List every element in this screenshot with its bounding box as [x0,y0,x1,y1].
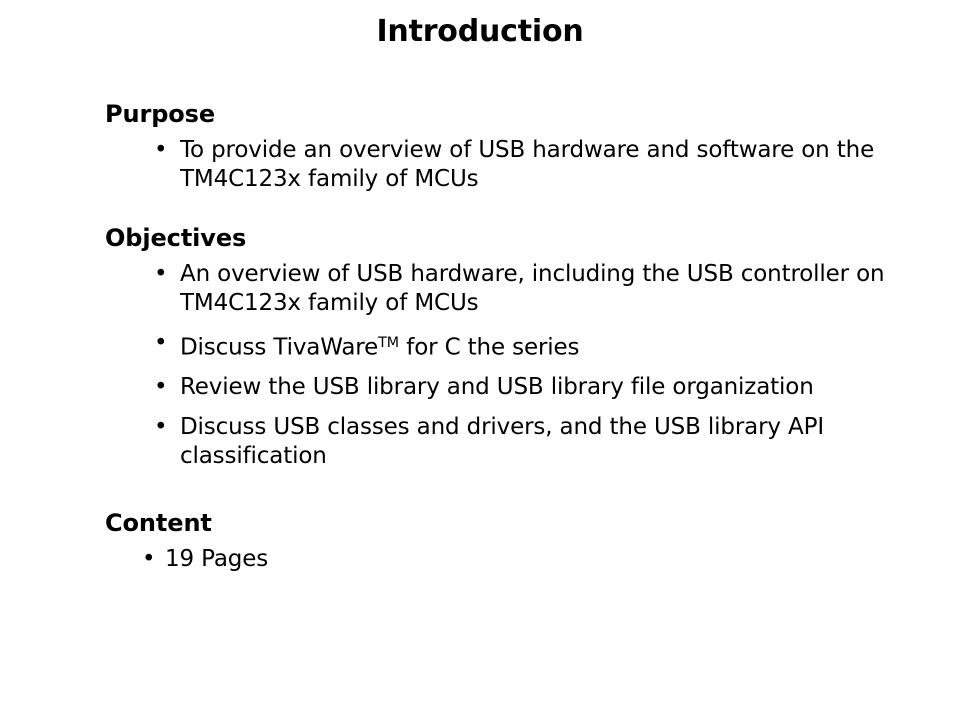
bullet-list-purpose: • To provide an overview of USB hardware… [0,136,960,194]
bullet-list-objectives: • An overview of USB hardware, including… [0,260,960,471]
page-title: Introduction [0,14,960,50]
trademark-superscript: TM [378,335,399,351]
list-item-label: Discuss USB classes and drivers, and the… [180,414,824,469]
list-item-label: Discuss TivaWare [180,334,378,360]
list-item-label: 19 Pages [165,546,268,572]
section-heading-content: Content [0,507,960,539]
section-content: Content • 19 Pages [0,507,960,574]
list-item: • 19 Pages [0,545,960,574]
list-item-label-tail: for C the series [399,334,579,360]
list-item: • To provide an overview of USB hardware… [0,136,960,194]
list-item: •Discuss TivaWareTM for C the series [0,329,960,362]
list-item-label: To provide an overview of USB hardware a… [180,137,874,192]
list-item: • Discuss USB classes and drivers, and t… [0,413,960,471]
list-item: • Review the USB library and USB library… [0,373,960,402]
list-item-label: Review the USB library and USB library f… [180,374,814,400]
list-spacer [0,318,960,329]
list-item: • An overview of USB hardware, including… [0,260,960,318]
bullet-dot-icon: • [154,329,167,358]
bullet-dot-icon: • [154,413,167,442]
bullet-dot-icon: • [154,373,167,402]
bullet-dot-icon: • [142,545,155,574]
list-spacer [0,402,960,413]
slide-body: Purpose • To provide an overview of USB … [0,98,960,574]
section-heading-objectives: Objectives [0,222,960,254]
bullet-dot-icon: • [154,136,167,165]
list-spacer [0,362,960,373]
list-item-label: An overview of USB hardware, including t… [180,261,884,316]
section-objectives: Objectives • An overview of USB hardware… [0,222,960,471]
section-heading-purpose: Purpose [0,98,960,130]
section-purpose: Purpose • To provide an overview of USB … [0,98,960,194]
bullet-list-content: • 19 Pages [0,545,960,574]
slide: Introduction Purpose • To provide an ove… [0,0,960,720]
bullet-dot-icon: • [154,260,167,289]
